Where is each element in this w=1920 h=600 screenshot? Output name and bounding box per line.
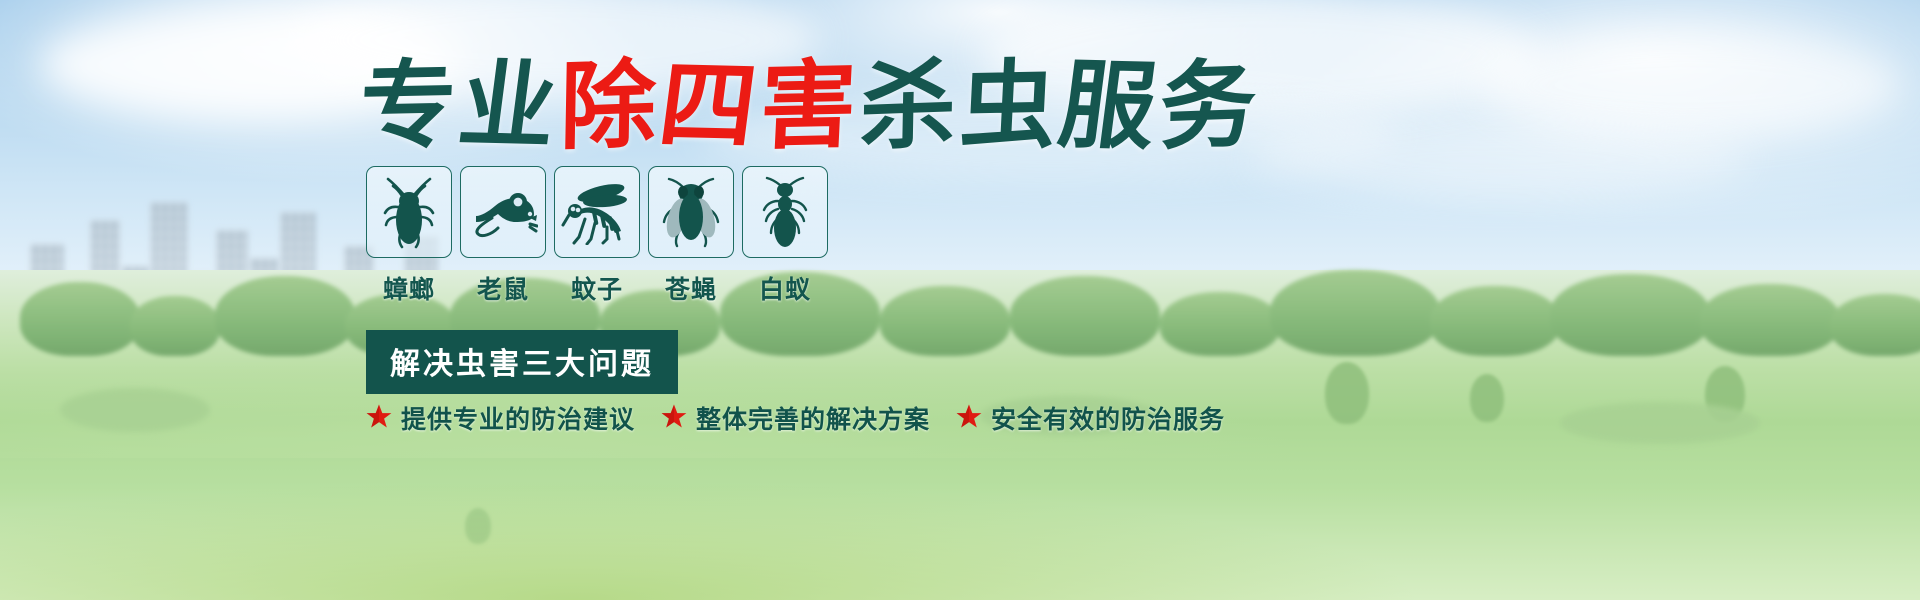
pest-item-housefly[interactable]: 苍蝇 [648, 166, 734, 306]
pest-control-banner: 专业除四害杀虫服务 [0, 0, 1920, 600]
headline-char: 服 [1054, 57, 1162, 155]
pest-item-termite[interactable]: 白蚁 [742, 166, 828, 306]
benefit-list: 提供专业的防治建议整体完善的解决方案安全有效的防治服务 [366, 400, 1225, 436]
mosquito-icon [561, 179, 633, 245]
cloud-shape [1250, 120, 1750, 200]
red-star-icon [661, 403, 687, 434]
benefit-text: 提供专业的防治建议 [401, 400, 635, 436]
pest-label: 苍蝇 [665, 270, 717, 306]
cockroach-icon [378, 175, 440, 249]
headline-char: 四 [654, 57, 762, 155]
benefit-text: 安全有效的防治服务 [991, 400, 1225, 436]
benefit-item: 整体完善的解决方案 [661, 400, 930, 436]
headline-char: 除 [559, 56, 657, 155]
pest-item-cockroach[interactable]: 蟑螂 [366, 166, 452, 306]
pest-item-mosquito[interactable]: 蚊子 [554, 166, 640, 306]
mouse-icon [468, 184, 538, 240]
pest-card[interactable] [366, 166, 452, 258]
headline-char: 务 [1159, 56, 1257, 155]
treeline [0, 264, 1920, 356]
benefit-text: 整体完善的解决方案 [696, 400, 930, 436]
pest-label: 老鼠 [477, 270, 529, 306]
termite-icon [756, 175, 814, 249]
headline-char: 害 [758, 57, 859, 155]
page-title: 专业除四害杀虫服务 [360, 58, 1256, 154]
headline-char: 专 [358, 57, 459, 155]
pest-icon-list: 蟑螂 [366, 166, 828, 306]
pest-card[interactable] [460, 166, 546, 258]
pest-label: 白蚁 [759, 270, 811, 306]
pest-label: 蟑螂 [383, 270, 435, 306]
ribbon-banner: 解决虫害三大问题 [366, 330, 678, 394]
benefit-item: 安全有效的防治服务 [956, 400, 1225, 436]
pest-item-mouse[interactable]: 老鼠 [460, 166, 546, 306]
pest-label: 蚊子 [571, 270, 623, 306]
headline-char: 虫 [958, 57, 1059, 155]
headline-char: 杀 [859, 56, 957, 155]
headline-char: 业 [454, 57, 562, 155]
housefly-icon [660, 176, 722, 248]
pest-card[interactable] [742, 166, 828, 258]
ribbon-text: 解决虫害三大问题 [390, 347, 654, 382]
benefit-item: 提供专业的防治建议 [366, 400, 635, 436]
pest-card[interactable] [554, 166, 640, 258]
pest-card[interactable] [648, 166, 734, 258]
red-star-icon [366, 403, 392, 434]
red-star-icon [956, 403, 982, 434]
